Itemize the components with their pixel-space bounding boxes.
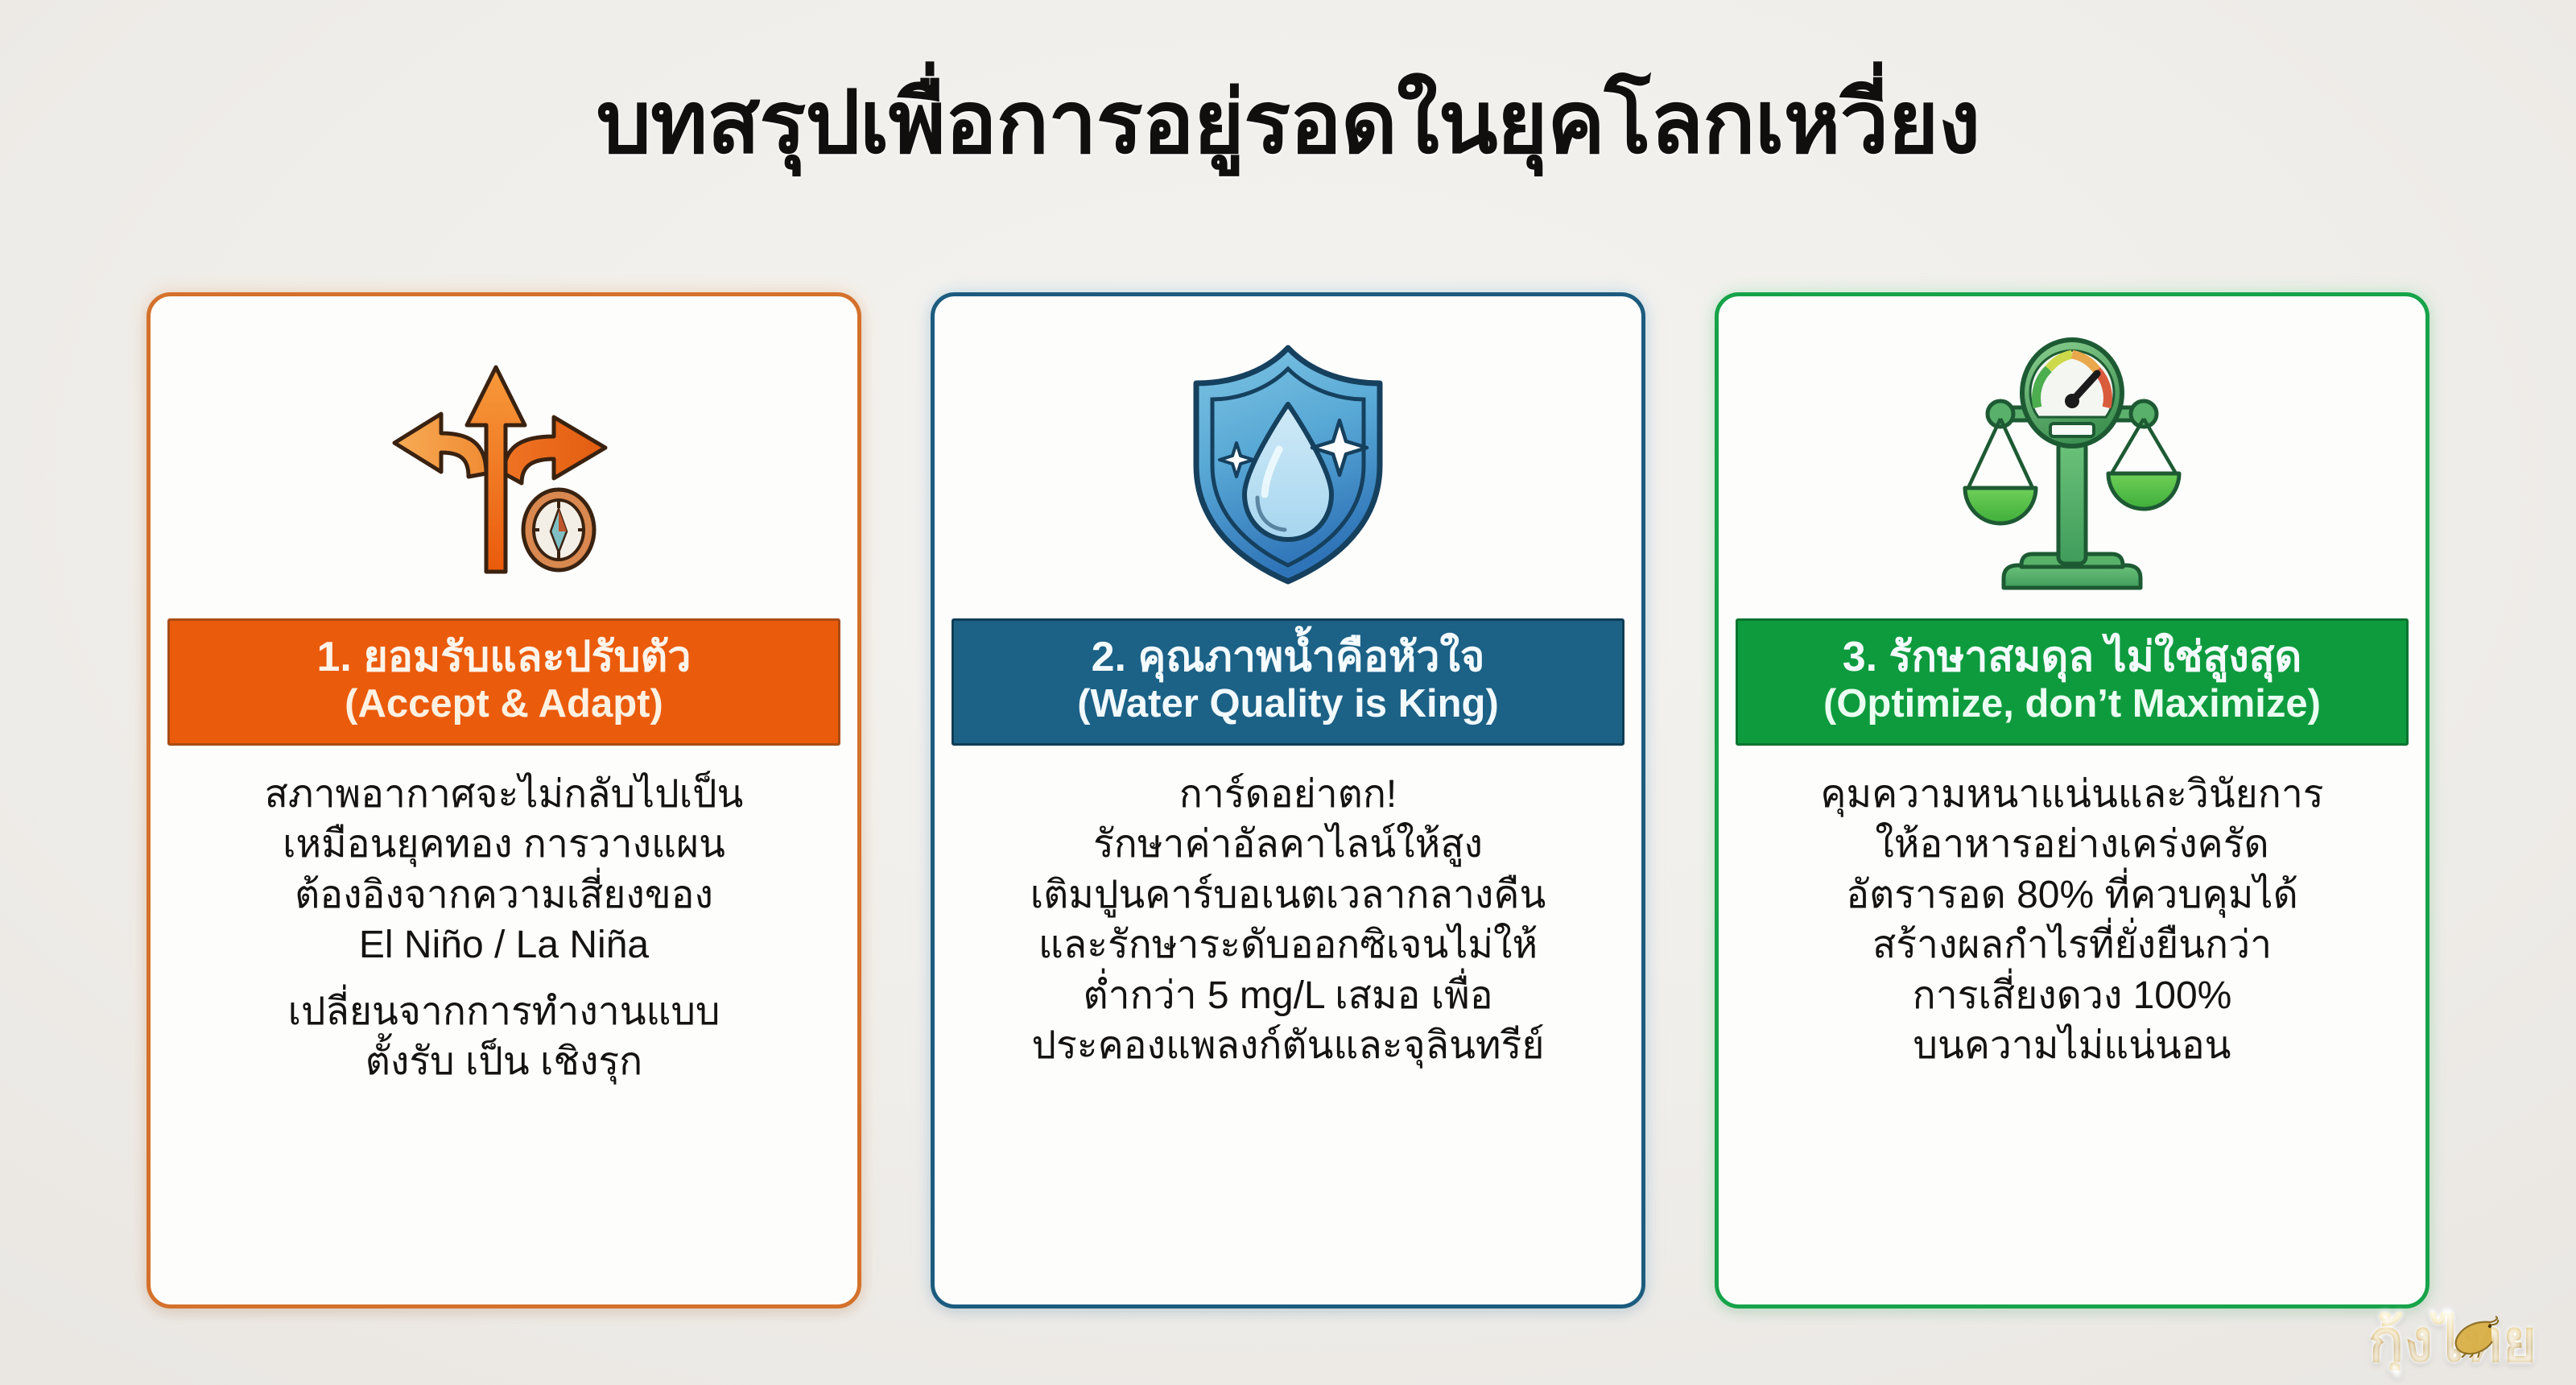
card-1-paragraph-1: สภาพอากาศจะไม่กลับไปเป็น เหมือนยุคทอง กา… [178, 770, 830, 971]
watermark-logo: กุ้งไทย [2368, 1313, 2537, 1371]
page-title: บทสรุปเพื่อการอยู่รอดในยุคโลกเหวี่ยง [0, 74, 2576, 172]
card-3-header-band: 3. รักษาสมดุล ไม่ใช่สูงสุด (Optimize, do… [1736, 618, 2409, 746]
card-grid: 1. ยอมรับและปรับตัว (Accept & Adapt) สภา… [147, 292, 2429, 1309]
text-line: ต้องอิงจากความเสี่ยงของ [178, 870, 830, 920]
text-line: สภาพอากาศจะไม่กลับไปเป็น [178, 770, 830, 820]
card-3-header-english: (Optimize, don’t Maximize) [1823, 682, 2321, 727]
text-line: ตั้งรับ เป็น เชิงรุก [178, 1037, 830, 1087]
card-optimize-maximize[interactable]: 3. รักษาสมดุล ไม่ใช่สูงสุด (Optimize, do… [1715, 292, 2429, 1309]
card-2-header-thai: 2. คุณภาพน้ำคือหัวใจ [1092, 634, 1485, 680]
card-2-body: การ์ดอย่าตก! รักษาค่าอัลคาไลน์ให้สูง เติ… [935, 746, 1641, 1304]
three-way-arrow-compass-icon [383, 330, 625, 596]
card-2-paragraph-1: การ์ดอย่าตก! รักษาค่าอัลคาไลน์ให้สูง เติ… [962, 770, 1614, 1071]
card-3-header-thai: 3. รักษาสมดุล ไม่ใช่สูงสุด [1843, 634, 2302, 680]
text-line: ให้อาหารอย่างเคร่งครัด [1746, 820, 2398, 870]
text-line: การ์ดอย่าตก! [962, 770, 1614, 820]
card-3-paragraph-1: คุมความหนาแน่นและวินัยการ ให้อาหารอย่างเ… [1746, 770, 2398, 1071]
text-line: รักษาค่าอัลคาไลน์ให้สูง [962, 820, 1614, 870]
card-3-icon-area [1719, 296, 2425, 618]
card-1-header-thai: 1. ยอมรับและปรับตัว [317, 634, 691, 680]
card-2-header-band: 2. คุณภาพน้ำคือหัวใจ (Water Quality is K… [952, 618, 1624, 746]
card-1-header-band: 1. ยอมรับและปรับตัว (Accept & Adapt) [167, 618, 840, 746]
text-line: คุมความหนาแน่นและวินัยการ [1746, 770, 2398, 820]
text-line: เติมปูนคาร์บอเนตเวลากลางคืน [962, 870, 1614, 920]
card-water-quality[interactable]: 2. คุณภาพน้ำคือหัวใจ (Water Quality is K… [931, 292, 1645, 1309]
water-drop-shield-icon [1167, 330, 1409, 596]
card-1-body: สภาพอากาศจะไม่กลับไปเป็น เหมือนยุคทอง กา… [151, 746, 857, 1304]
balance-scale-gauge-icon [1947, 330, 2197, 596]
card-1-header-english: (Accept & Adapt) [345, 682, 663, 727]
text-line: บนความไม่แน่นอน [1746, 1021, 2398, 1071]
card-1-icon-area [151, 296, 857, 618]
card-3-body: คุมความหนาแน่นและวินัยการ ให้อาหารอย่างเ… [1719, 746, 2425, 1304]
text-line: เปลี่ยนจากการทำงานแบบ [178, 987, 830, 1037]
text-line: สร้างผลกำไรที่ยั่งยืนกว่า [1746, 920, 2398, 970]
card-2-header-english: (Water Quality is King) [1077, 682, 1499, 727]
text-line: อัตรารอด 80% ที่ควบคุมได้ [1746, 870, 2398, 920]
text-line: El Niño / La Niña [178, 920, 830, 970]
text-line: การเสี่ยงดวง 100% [1746, 971, 2398, 1021]
text-line: ประคองแพลงก์ตันและจุลินทรีย์ [962, 1021, 1614, 1071]
text-line: และรักษาระดับออกซิเจนไม่ให้ [962, 920, 1614, 970]
text-line: เหมือนยุคทอง การวางแผน [178, 820, 830, 870]
text-line: ต่ำกว่า 5 mg/L เสมอ เพื่อ [962, 971, 1614, 1021]
card-2-icon-area [935, 296, 1641, 618]
card-1-paragraph-2: เปลี่ยนจากการทำงานแบบ ตั้งรับ เป็น เชิงร… [178, 987, 830, 1088]
shrimp-icon [2442, 1316, 2500, 1358]
card-accept-adapt[interactable]: 1. ยอมรับและปรับตัว (Accept & Adapt) สภา… [147, 292, 861, 1309]
